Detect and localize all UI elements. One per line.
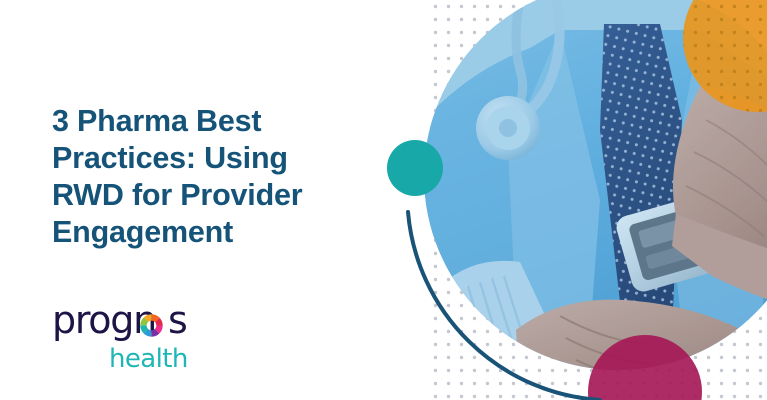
- hero-artwork: [367, 0, 767, 400]
- text-panel: 3 Pharma Best Practices: Using RWD for P…: [0, 0, 400, 400]
- prognos-o-ring-icon: [140, 314, 163, 337]
- logo-secondary-text: health: [109, 344, 188, 374]
- logo-wordmark: progn: [52, 300, 232, 340]
- artwork-svg: [367, 0, 767, 400]
- prognos-health-logo: progn: [52, 300, 232, 378]
- blog-hero-banner: 3 Pharma Best Practices: Using RWD for P…: [0, 0, 767, 400]
- page-title: 3 Pharma Best Practices: Using RWD for P…: [52, 103, 352, 251]
- logo-brand-suffix: s: [168, 300, 187, 340]
